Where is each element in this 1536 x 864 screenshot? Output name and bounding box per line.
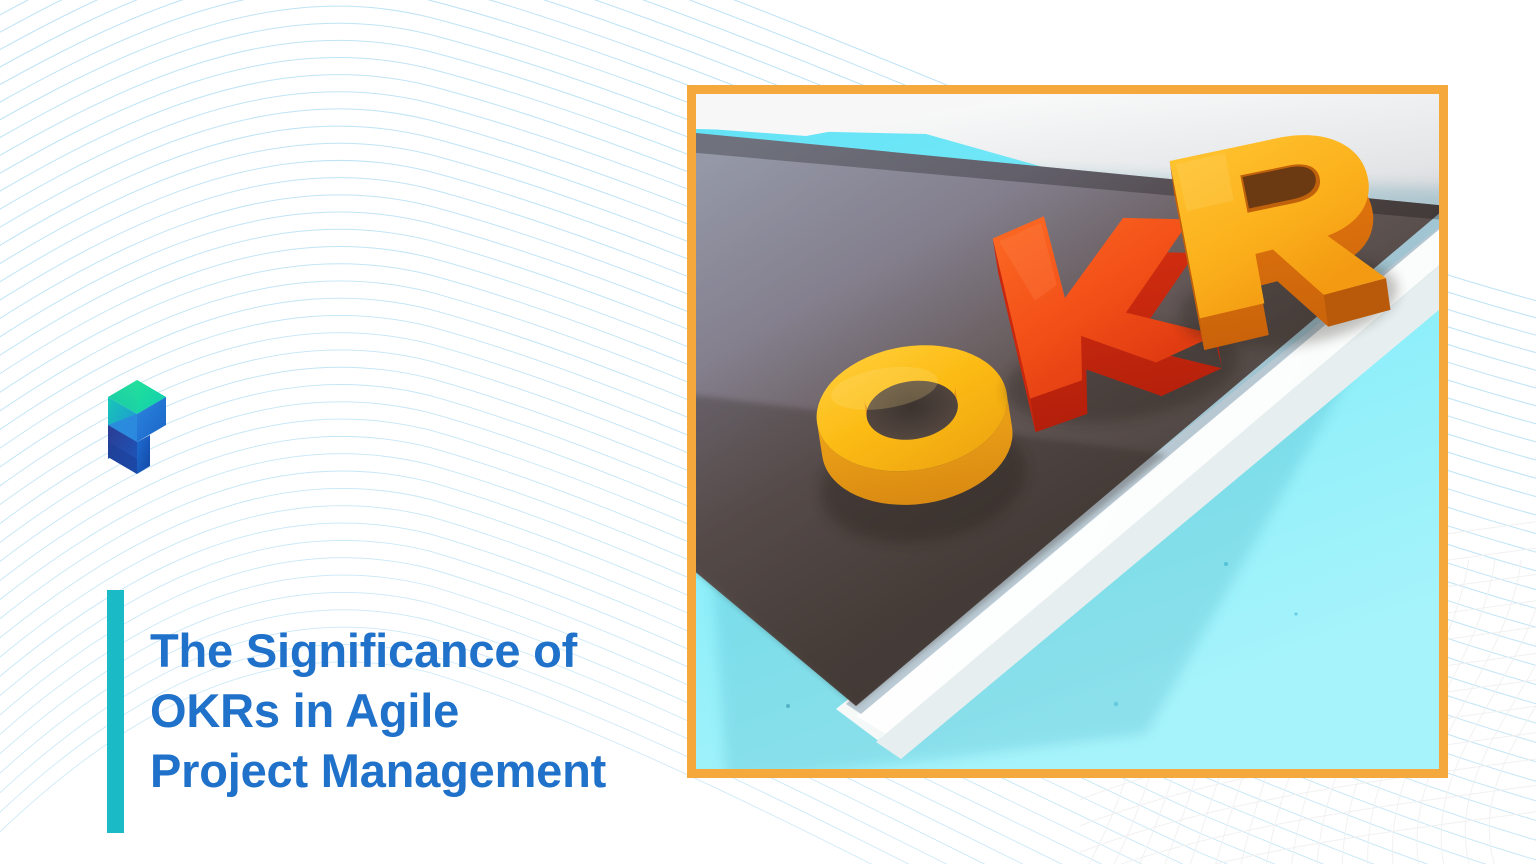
hero-photo-frame	[687, 85, 1448, 778]
hero-photo	[696, 94, 1439, 769]
brand-logo-icon	[106, 378, 168, 476]
page-title-text: The Significance of OKRs in Agile Projec…	[150, 621, 606, 801]
title-card-canvas: The Significance of OKRs in Agile Projec…	[0, 0, 1536, 864]
page-title: The Significance of OKRs in Agile Projec…	[107, 590, 606, 833]
title-accent-bar	[107, 590, 124, 833]
